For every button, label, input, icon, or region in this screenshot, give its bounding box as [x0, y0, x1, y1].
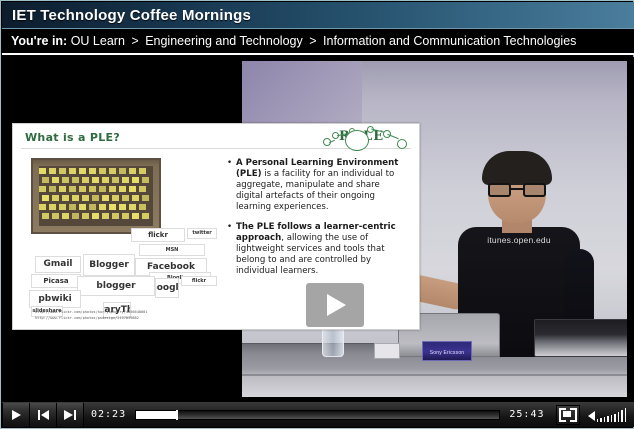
sticky-note	[52, 195, 59, 201]
play-button[interactable]	[2, 403, 30, 427]
sticky-note	[39, 186, 46, 192]
sticky-note	[72, 213, 79, 219]
sticky-note	[119, 204, 126, 210]
sticky-note	[92, 195, 99, 201]
service-logo: Gmail	[35, 256, 81, 273]
sticky-note	[112, 213, 119, 219]
sticky-note	[92, 177, 99, 183]
media-player-page: IET Technology Coffee Mornings You're in…	[0, 0, 634, 429]
breadcrumb-item-information-and-communication-technologies[interactable]: Information and Communication Technologi…	[323, 34, 576, 48]
sticky-note	[139, 186, 146, 192]
breadcrumb-label: You're in:	[11, 34, 67, 48]
sticky-note	[49, 186, 56, 192]
sticky-note	[129, 204, 136, 210]
sticky-note	[79, 186, 86, 192]
sticky-note	[109, 204, 116, 210]
seek-bar[interactable]	[135, 410, 500, 420]
service-logo: Blogger	[83, 254, 135, 276]
volume-icon	[588, 411, 595, 421]
secondary-laptop	[534, 319, 627, 357]
sticky-note	[122, 195, 129, 201]
presenter-glasses-icon	[488, 183, 546, 198]
service-logo: Picasa	[31, 274, 81, 288]
next-button[interactable]	[57, 403, 84, 427]
page-title: IET Technology Coffee Mornings	[2, 7, 251, 24]
breadcrumb-item-engineering-and-technology[interactable]: Engineering and Technology	[145, 34, 303, 48]
sticky-note	[99, 186, 106, 192]
sticky-note	[142, 177, 149, 183]
sticky-note	[79, 168, 86, 174]
sticky-note	[72, 177, 79, 183]
role-logo: ROLE	[323, 126, 409, 150]
sticky-note	[69, 204, 76, 210]
volume-control[interactable]	[584, 408, 634, 422]
video-frame[interactable]: itunes.open.edu Sony Ericsson What is a …	[6, 61, 627, 397]
sticky-note	[132, 195, 139, 201]
sticky-note	[62, 177, 69, 183]
next-icon	[64, 410, 76, 420]
sticky-note	[39, 204, 46, 210]
play-overlay-button[interactable]	[306, 283, 364, 327]
sticky-note	[129, 168, 136, 174]
sticky-note	[42, 177, 49, 183]
sticky-note	[139, 204, 146, 210]
slide-bullet: • The PLE follows a learner-centric appr…	[227, 222, 409, 277]
sticky-note	[52, 177, 59, 183]
sticky-note	[142, 213, 149, 219]
previous-button[interactable]	[30, 403, 57, 427]
sticky-note	[109, 168, 116, 174]
sticky-note	[69, 168, 76, 174]
presenter-hair	[482, 151, 552, 185]
sticky-note	[132, 213, 139, 219]
sticky-note	[89, 204, 96, 210]
sticky-note	[82, 195, 89, 201]
sticky-note	[89, 186, 96, 192]
sticky-note	[109, 186, 116, 192]
play-icon	[12, 410, 21, 420]
sticky-note	[69, 186, 76, 192]
sticky-note	[99, 204, 106, 210]
seek-fill	[136, 411, 176, 419]
service-logo: blogger	[77, 276, 155, 296]
sticky-note	[129, 186, 136, 192]
sticky-note	[139, 168, 146, 174]
sticky-note	[132, 177, 139, 183]
sticky-note	[122, 213, 129, 219]
sticky-note	[102, 177, 109, 183]
presenter-shirt-text: itunes.open.edu	[466, 235, 572, 245]
sticky-note	[102, 213, 109, 219]
sticky-note	[82, 177, 89, 183]
sticky-note	[72, 195, 79, 201]
sticky-note	[49, 168, 56, 174]
web-services-logo-cloud: flickrtwitterMSNGmailBloggerFacebookPica…	[21, 228, 217, 316]
sticky-note-wall-photo	[31, 158, 161, 234]
service-logo: flickr	[131, 228, 185, 242]
sticky-note	[82, 213, 89, 219]
breadcrumb: You're in: OU Learn > Engineering and Te…	[2, 29, 634, 55]
sticky-note	[92, 213, 99, 219]
service-logo: twitter	[187, 228, 217, 239]
fullscreen-button[interactable]	[556, 405, 580, 425]
sticky-note	[112, 177, 119, 183]
seek-handle[interactable]	[176, 410, 178, 420]
sticky-note	[62, 213, 69, 219]
sticky-note	[119, 168, 126, 174]
slide-credit-url: http://www.flickr.com/photos/psdesign/21…	[35, 316, 148, 321]
sticky-note	[59, 204, 66, 210]
service-logo: Google	[155, 278, 179, 298]
play-icon	[327, 294, 346, 316]
sticky-note	[119, 186, 126, 192]
sticky-note	[49, 204, 56, 210]
sticky-note	[39, 168, 46, 174]
previous-icon	[38, 410, 49, 420]
sticky-note	[59, 186, 66, 192]
slide-title: What is a PLE?	[25, 131, 120, 144]
sticky-note	[59, 168, 66, 174]
bullet-marker: •	[227, 158, 236, 213]
sticky-note	[52, 213, 59, 219]
service-logo: MSN	[139, 244, 205, 256]
video-stage[interactable]: itunes.open.edu Sony Ericsson What is a …	[2, 57, 634, 402]
sticky-note	[62, 195, 69, 201]
total-time: 25:43	[502, 409, 551, 420]
sticky-note	[142, 195, 149, 201]
blue-product-box: Sony Ericsson	[422, 341, 472, 361]
breadcrumb-item-ou-learn[interactable]: OU Learn	[71, 34, 125, 48]
breadcrumb-separator: >	[128, 34, 141, 48]
sticky-note	[89, 168, 96, 174]
bullet-marker: •	[227, 222, 236, 277]
slide-credit-url: http://www.flickr.com/photos/hurryupharr…	[35, 310, 148, 315]
slide-bullet: • A Personal Learning Environment (PLE) …	[227, 158, 409, 213]
sticky-note	[42, 213, 49, 219]
current-time: 02:23	[84, 409, 133, 420]
sticky-note	[102, 195, 109, 201]
page-title-bar: IET Technology Coffee Mornings	[2, 2, 634, 29]
sticky-note	[112, 195, 119, 201]
small-white-box	[374, 343, 400, 359]
sticky-note	[42, 195, 49, 201]
sticky-note	[99, 168, 106, 174]
breadcrumb-separator: >	[306, 34, 319, 48]
service-logo: flickr	[181, 276, 217, 286]
blue-product-box-label: Sony Ericsson	[423, 350, 471, 356]
sticky-note	[122, 177, 129, 183]
sticky-note	[79, 204, 86, 210]
slide-photo-credits: http://www.flickr.com/photos/hurryupharr…	[35, 310, 148, 321]
video-control-bar: 02:23 25:43	[2, 401, 634, 427]
